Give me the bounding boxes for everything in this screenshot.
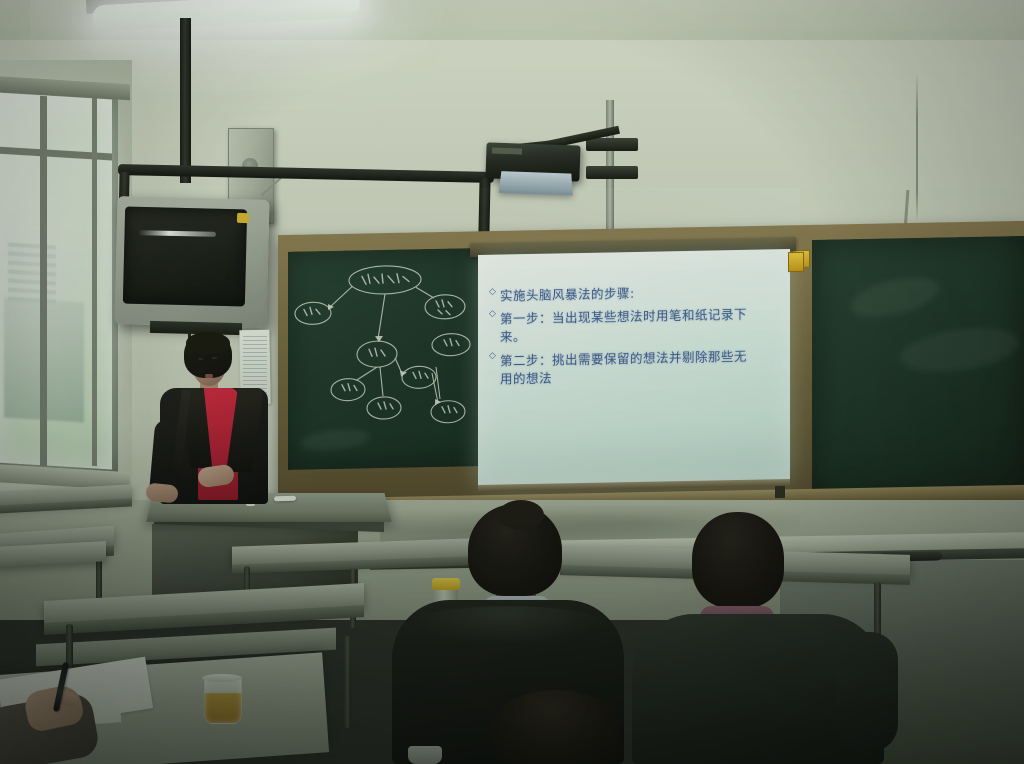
wall-crack (916, 72, 918, 222)
tv-ceiling-pole (180, 18, 191, 183)
bullet-marker-icon: ◇ (489, 308, 496, 319)
window-mullion-1 (40, 96, 47, 466)
projector-mount-plate-lower (586, 166, 638, 179)
window-mullion-2 (92, 96, 97, 466)
screen-weight (775, 486, 785, 498)
tv-screen (123, 207, 247, 307)
teacher-fringe (186, 332, 230, 354)
teacher-eye-left (198, 358, 203, 360)
classroom-photo: 实施头脑风暴法的步骤: ◇ 第一步：当出现某些想法时用笔和纸记录下 ◇ 来。 第… (0, 0, 1024, 764)
slide-heading: 实施头脑风暴法的步骤: (500, 283, 635, 305)
projector-control-panel[interactable] (492, 147, 522, 154)
student-head-foreground (492, 690, 620, 764)
second-cup[interactable] (408, 746, 442, 764)
student-hair-bun (498, 500, 544, 530)
tea-cup-rim (202, 674, 242, 682)
flask-lid[interactable] (432, 578, 460, 590)
slide-bullet-1-cont: 来。 (500, 326, 526, 345)
teacher-eye-right (212, 357, 217, 359)
student-head (692, 512, 784, 608)
desk-leg (344, 636, 351, 728)
student-arm (836, 632, 898, 752)
teacher-hand-left (145, 482, 179, 503)
bullet-marker-icon: ◇ (489, 286, 496, 297)
bullet-marker-icon: ◇ (489, 350, 496, 361)
tv-badge-icon (237, 213, 249, 223)
slide-bullet-2-cont: 用的想法 (500, 368, 552, 388)
screen-sticker-icon (788, 252, 804, 272)
student-shoulder-highlight (408, 606, 608, 646)
teacher-mouth (205, 374, 213, 378)
chalk-stick[interactable] (274, 496, 296, 502)
projector-mount-plate-upper (586, 138, 638, 151)
tea-cup[interactable] (204, 676, 242, 724)
